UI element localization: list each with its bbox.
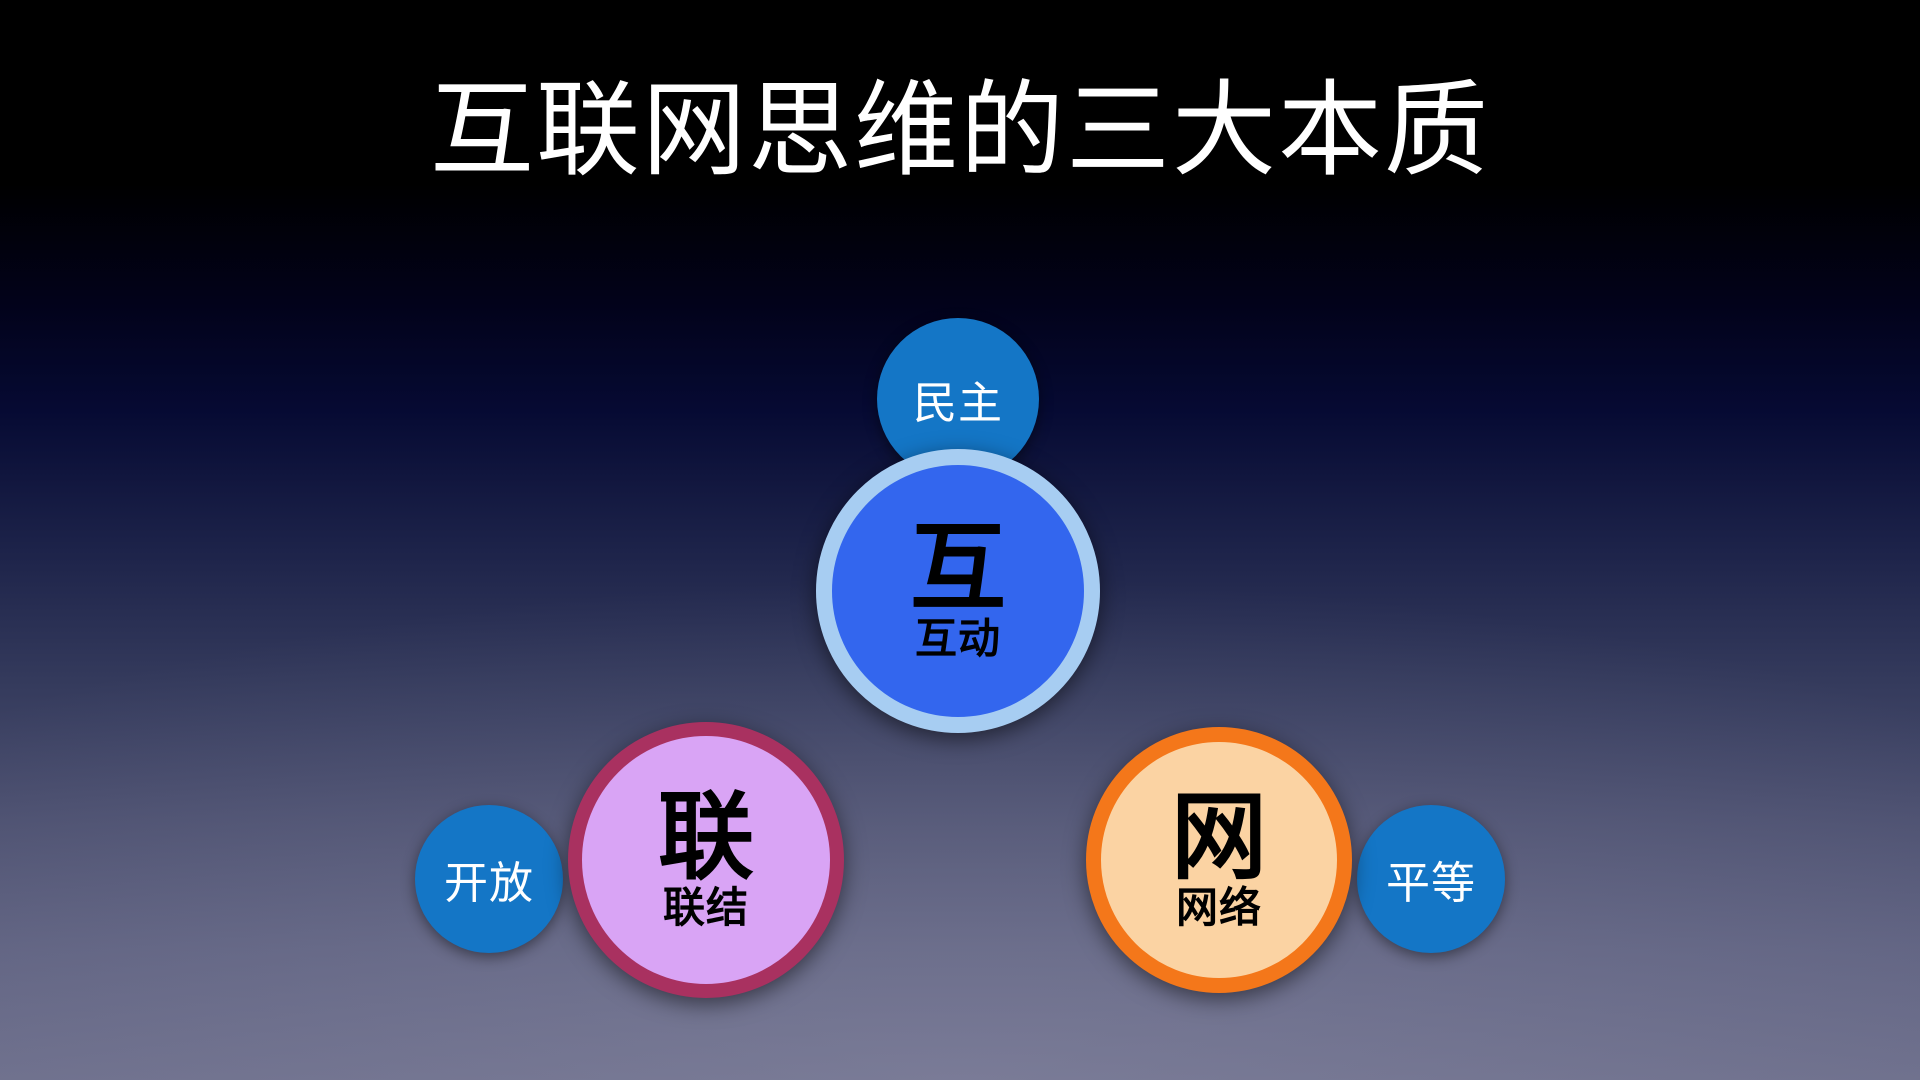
satellite-circle-open: 开放 [415, 805, 563, 953]
pillar-circle-connection: 联 联结 [568, 722, 844, 998]
pillar-label-network: 网络 [1176, 886, 1262, 930]
pillar-char-connection: 联 [658, 790, 754, 884]
pillar-label-connection: 联结 [663, 886, 749, 930]
pillar-char-interaction: 互 [910, 521, 1006, 615]
slide-canvas: 互联网思维的三大本质 民主 开放 平等 互 互动 联 联结 网 网络 [0, 0, 1920, 1080]
satellite-label-open: 开放 [444, 847, 534, 911]
pillar-circle-network: 网 网络 [1086, 727, 1352, 993]
satellite-label-democracy: 民主 [913, 367, 1003, 431]
satellite-label-equality: 平等 [1386, 847, 1476, 911]
pillar-circle-interaction: 互 互动 [816, 449, 1100, 733]
pillar-label-interaction: 互动 [915, 617, 1001, 661]
satellite-circle-equality: 平等 [1357, 805, 1505, 953]
page-title: 互联网思维的三大本质 [0, 74, 1920, 186]
pillar-char-network: 网 [1171, 790, 1267, 884]
